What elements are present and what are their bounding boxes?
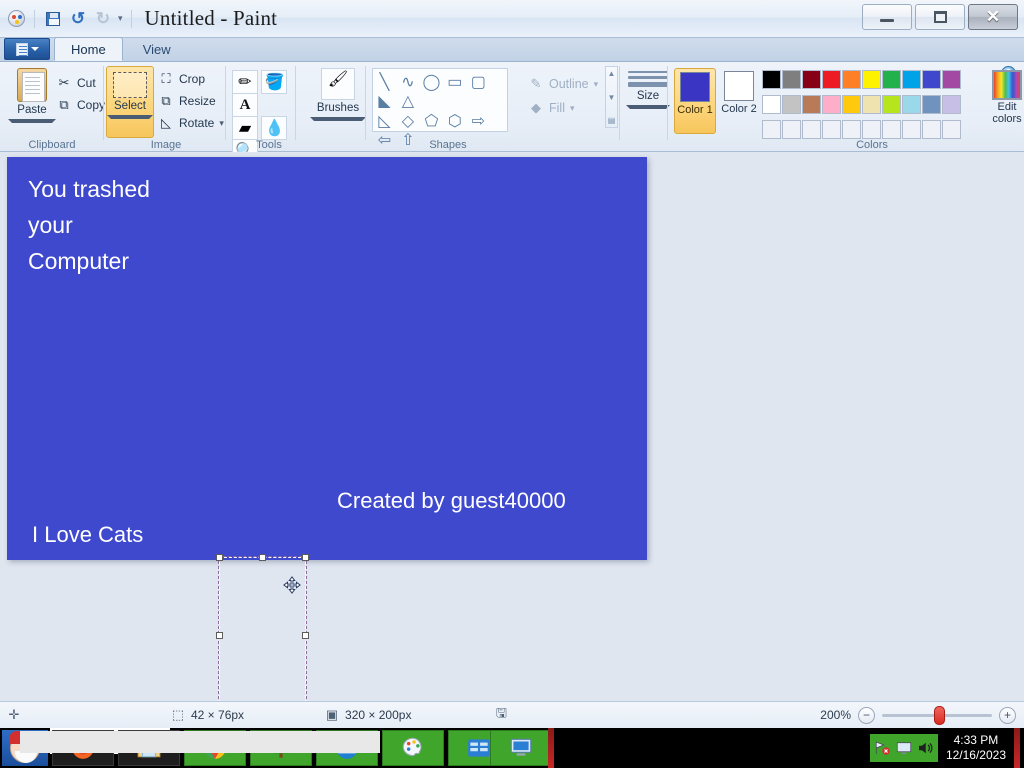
scroll-up-icon[interactable]: ▲ [608,69,616,78]
palette-swatch-r1-c4[interactable] [822,70,841,89]
shape-hexagon-icon[interactable]: ⬡ [445,111,464,130]
color1-label: Color 1 [675,104,715,116]
brushes-label: Brushes [310,102,366,114]
taskbar-red-divider [548,728,554,768]
taskbar: Search Control Panel [0,728,1024,768]
group-label-shapes: Shapes [368,139,528,151]
size-line-2 [628,76,668,79]
canvas-area: You trashed your Computer Created by gue… [0,152,1024,701]
palette-swatch-r2-c3[interactable] [802,95,821,114]
rainbow-icon [992,70,1022,100]
shapes-gallery[interactable]: ╲ ∿ ◯ ▭ ▢ ◣ △ ◺ ◇ ⬠ ⬡ ⇨ ⇦ ⇧ [372,68,508,132]
chevron-down-icon: ▾ [570,103,575,114]
palette-swatch-r1-c8[interactable] [902,70,921,89]
copy-button[interactable]: ⧉ Copy [56,94,105,116]
canvas-text-1: You trashed [28,176,150,203]
resize-icon: ⧉ [158,93,174,109]
undo-icon[interactable]: ↺ [68,9,88,29]
resize-label: Resize [179,94,216,108]
color2-swatch [724,71,754,101]
taskbar-blank-strip [20,731,380,753]
chevron-down-icon [8,119,56,123]
scroll-expand-icon[interactable]: ▤ [608,116,616,125]
paste-label: Paste [8,104,56,116]
canvas-text-3: Computer [28,248,129,275]
clock-date: 12/16/2023 [946,748,1006,763]
size-line-3 [628,82,668,87]
zoom-out-button[interactable]: − [858,707,875,724]
cut-button[interactable]: ✂ Cut [56,72,105,94]
palette-swatch-r1-c2[interactable] [782,70,801,89]
palette-swatch-r2-c6[interactable] [862,95,881,114]
document-icon [16,43,28,56]
color-picker-icon[interactable]: 💧 [261,116,287,140]
palette-swatch-r1-c5[interactable] [842,70,861,89]
taskbar-item-remote-desktop[interactable] [490,730,552,766]
color2-button[interactable]: Color 2 [718,68,760,115]
eraser-icon[interactable]: ▰ [232,116,258,140]
crop-button[interactable]: ⛶ Crop [158,68,224,90]
group-colors: Color 1 Color 2 Edit colors Colors [670,62,1024,152]
palette-swatch-r2-c4[interactable] [822,95,841,114]
chevron-down-icon: ▾ [594,79,599,90]
palette-swatch-r3-c7[interactable] [882,120,901,139]
palette-swatch-r3-c2[interactable] [782,120,801,139]
color1-swatch [680,72,710,102]
fill-button[interactable]: ◆ Fill ▾ [528,96,598,120]
palette-swatch-r1-c9[interactable] [922,70,941,89]
network-icon[interactable] [874,739,892,757]
palette-swatch-r2-c2[interactable] [782,95,801,114]
selection-marquee-icon [113,72,147,98]
volume-icon[interactable] [916,739,934,757]
move-cursor-icon [283,576,301,594]
select-button[interactable]: Select [106,66,154,138]
shape-curve-icon[interactable]: ∿ [398,72,417,91]
window-title: Untitled - Paint [145,6,278,31]
divider [103,66,104,140]
paint-canvas[interactable]: You trashed your Computer Created by gue… [7,157,647,560]
shape-diamond-icon[interactable]: ◇ [398,111,417,130]
selection-handle-ne[interactable] [302,554,309,561]
scroll-down-icon[interactable]: ▼ [608,93,616,102]
fill-bucket-icon[interactable]: 🪣 [261,70,287,94]
palette-swatch-r2-c1[interactable] [762,95,781,114]
divider [295,66,296,140]
shape-rectangle-icon[interactable]: ▭ [445,72,464,91]
zoom-slider[interactable] [882,714,992,717]
tray-icons[interactable] [870,734,938,762]
control-panel-icon [466,735,492,761]
rotate-label: Rotate [179,116,214,130]
paint-app-icon[interactable] [6,9,26,29]
shapes-scrollbar[interactable]: ▲ ▼ ▤ [605,66,618,128]
window-controls: ✕ [862,4,1018,30]
selection-handle-e[interactable] [302,632,309,639]
chevron-down-icon: ▾ [219,118,224,129]
divider [365,66,366,140]
divider [34,10,35,28]
palette-swatch-r1-c10[interactable] [942,70,961,89]
image-size-value: 320 × 200px [345,708,411,722]
selection-size-icon: ⬚ [170,708,186,723]
clock[interactable]: 4:33 PM 12/16/2023 [942,733,1010,763]
fill-icon: ◆ [528,100,544,116]
status-bar: ✛ ⬚ 42 × 76px ▣ 320 × 200px 🖫 200% − + [0,701,1024,728]
brush-icon: 🖌 [321,68,355,100]
divider [225,66,226,140]
copy-label: Copy [77,98,105,112]
selection-size-value: 42 × 76px [191,708,244,722]
color2-label: Color 2 [718,103,760,115]
group-brushes: 🖌 Brushes [310,62,366,152]
divider [619,66,620,140]
shape-pentagon-icon[interactable]: ⬠ [422,111,441,130]
group-label-tools: Tools [228,139,310,151]
selection-handle-nw[interactable] [216,554,223,561]
ribbon: ? Paste ✂ Cut ⧉ Copy Clipboard [0,62,1024,152]
paint-window: ↺ ↻ ▾ Untitled - Paint ✕ Home View ? Pas… [0,0,1024,768]
customize-qat-icon[interactable]: ▾ [118,13,123,24]
chevron-down-icon [310,117,366,121]
palette-swatch-r1-c7[interactable] [882,70,901,89]
zoom-slider-thumb[interactable] [934,706,945,725]
palette-swatch-r3-c5[interactable] [842,120,861,139]
resize-button[interactable]: ⧉ Resize [158,90,224,112]
ribbon-tabs: Home View [0,38,1024,62]
palette-swatch-r1-c3[interactable] [802,70,821,89]
taskbar-red-edge [1014,728,1020,768]
palette-swatch-r2-c10[interactable] [942,95,961,114]
zoom-in-button[interactable]: + [999,707,1016,724]
palette-swatch-r3-c10[interactable] [942,120,961,139]
palette-swatch-r3-c3[interactable] [802,120,821,139]
paint-palette-icon [400,735,426,761]
divider [131,10,132,28]
outline-button[interactable]: ✎ Outline ▾ [528,72,598,96]
app-menu-button[interactable] [4,38,50,60]
pencil-icon[interactable]: ✏ [232,70,258,94]
clipboard-icon [17,68,47,102]
taskbar-item-paint[interactable] [382,730,444,766]
color1-button[interactable]: Color 1 [674,68,716,134]
selection-handle-w[interactable] [216,632,223,639]
status-save-icon[interactable]: 🖫 [493,708,509,723]
group-size: Size [622,62,668,152]
edit-colors-button[interactable]: Edit colors [982,68,1024,125]
restore-button[interactable] [915,4,965,30]
palette-swatch-r3-c8[interactable] [902,120,921,139]
paste-button[interactable]: Paste [8,66,56,123]
group-label-image: Image [106,139,226,151]
palette-swatch-r2-c7[interactable] [882,95,901,114]
shape-diagonal-triangle-icon[interactable]: ◺ [375,111,394,130]
palette-swatch-r2-c9[interactable] [922,95,941,114]
tab-view[interactable]: View [127,38,187,61]
display-icon[interactable] [895,739,913,757]
close-button[interactable]: ✕ [968,4,1018,30]
palette-swatch-r2-c8[interactable] [902,95,921,114]
group-shapes: ╲ ∿ ◯ ▭ ▢ ◣ △ ◺ ◇ ⬠ ⬡ ⇨ ⇦ ⇧ [368,62,620,152]
canvas-text-2: your [28,212,73,239]
group-label-colors: Colors [762,139,982,151]
group-label-clipboard: Clipboard [0,139,104,151]
palette-swatch-r1-c1[interactable] [762,70,781,89]
scissors-icon: ✂ [56,75,72,91]
outline-label: Outline [549,77,589,91]
shape-line-icon[interactable]: ╲ [375,72,394,91]
group-image: Select ⛶ Crop ⧉ Resize ◺ Rotate ▾ Image [106,62,226,152]
select-label: Select [107,100,153,112]
text-icon[interactable]: A [232,93,258,117]
remote-desktop-icon [508,735,534,761]
shape-right-arrow-icon[interactable]: ⇨ [469,111,488,130]
shape-triangle-icon[interactable]: △ [398,92,417,111]
palette-swatch-r3-c9[interactable] [922,120,941,139]
quick-access-toolbar: ↺ ↻ ▾ [0,9,135,29]
tab-home[interactable]: Home [54,37,123,61]
copy-icon: ⧉ [56,97,72,113]
zoom-level-value: 200% [820,708,851,722]
clock-time: 4:33 PM [946,733,1006,748]
brushes-button[interactable]: 🖌 Brushes [310,66,366,121]
redo-icon[interactable]: ↻ [93,9,113,29]
palette-swatch-r2-c5[interactable] [842,95,861,114]
size-label: Size [626,90,670,102]
selection-handle-n[interactable] [259,554,266,561]
canvas-text-4: Created by guest40000 [337,488,566,514]
divider [667,66,668,140]
minimize-button[interactable] [862,4,912,30]
outline-icon: ✎ [528,76,544,92]
shape-rounded-rectangle-icon[interactable]: ▢ [469,72,488,91]
crop-label: Crop [179,72,205,86]
title-bar: ↺ ↻ ▾ Untitled - Paint ✕ [0,0,1024,38]
palette-swatch-r3-c6[interactable] [862,120,881,139]
color-palette[interactable] [762,70,962,145]
crop-icon: ⛶ [158,71,174,87]
cut-label: Cut [77,76,96,90]
edit-colors-label: Edit colors [982,101,1024,125]
save-icon[interactable] [43,9,63,29]
cursor-position-icon: ✛ [6,708,22,723]
palette-swatch-r1-c6[interactable] [862,70,881,89]
rotate-icon: ◺ [158,115,174,131]
shape-oval-icon[interactable]: ◯ [422,72,441,91]
chevron-down-icon [626,105,670,109]
rotate-button[interactable]: ◺ Rotate ▾ [158,112,224,134]
system-tray: 4:33 PM 12/16/2023 [870,728,1020,768]
chevron-down-icon [31,47,39,51]
palette-swatch-r3-c4[interactable] [822,120,841,139]
shape-right-triangle-icon[interactable]: ◣ [375,92,394,111]
zoom-controls: 200% − + [820,707,1016,724]
group-tools: ✏ 🪣 A ▰ 💧 🔍 Tools [228,62,310,152]
fill-label: Fill [549,101,565,115]
chevron-down-icon [107,115,153,119]
canvas-text-5: I Love Cats [32,522,143,548]
palette-swatch-r3-c1[interactable] [762,120,781,139]
image-size-icon: ▣ [324,708,340,723]
group-clipboard: Paste ✂ Cut ⧉ Copy Clipboard [0,62,104,152]
size-button[interactable]: Size [626,68,670,109]
size-line-1 [628,71,668,73]
